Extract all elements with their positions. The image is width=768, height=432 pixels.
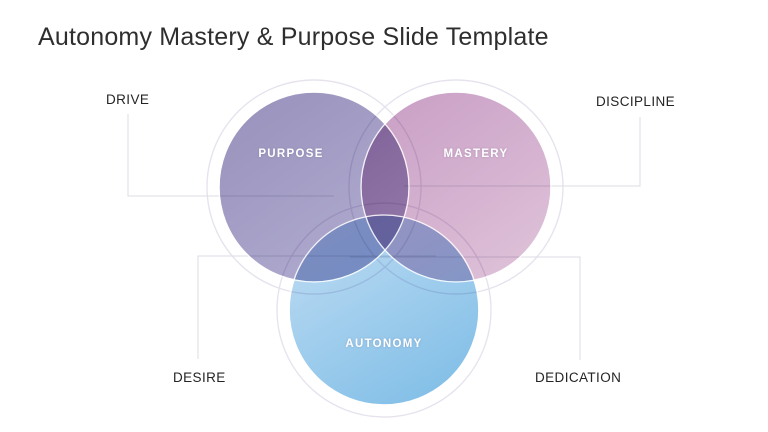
slide-canvas: Autonomy Mastery & Purpose Slide Templat… <box>0 0 768 432</box>
callout-label-drive: DRIVE <box>106 92 149 107</box>
venn-diagram: PURPOSE MASTERY AUTONOMY DRIVE DISCIPLIN… <box>0 0 768 432</box>
callout-label-dedication: DEDICATION <box>535 370 621 385</box>
venn-label-autonomy: AUTONOMY <box>345 338 422 350</box>
venn-graphics <box>0 0 768 432</box>
venn-circle-autonomy <box>289 215 479 405</box>
callout-label-discipline: DISCIPLINE <box>596 94 675 109</box>
callout-label-desire: DESIRE <box>173 370 226 385</box>
venn-label-purpose: PURPOSE <box>258 148 323 160</box>
venn-label-mastery: MASTERY <box>444 148 509 160</box>
venn-circles <box>219 92 551 405</box>
